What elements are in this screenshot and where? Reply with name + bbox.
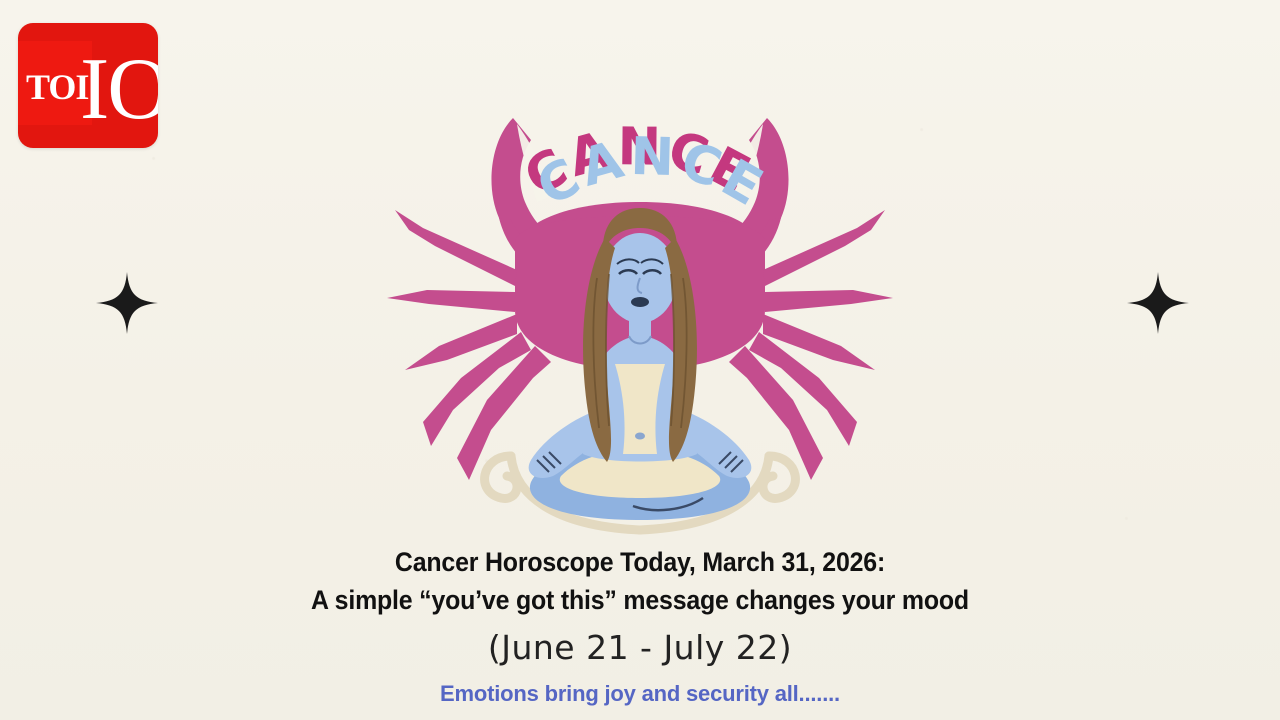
caption-block: Cancer Horoscope Today, March 31, 2026: … [0, 543, 1280, 707]
zodiac-date-range: (June 21 - July 22) [0, 628, 1280, 667]
logo-wordmark: TOI [26, 69, 88, 105]
logo-monogram: IO [80, 46, 158, 134]
toi-logo[interactable]: IO TOI [18, 23, 158, 148]
headline-line-1: Cancer Horoscope Today, March 31, 2026: [395, 547, 885, 577]
headline-line-2: A simple “you’ve got this” message chang… [38, 581, 1241, 619]
sparkle-star-right-icon [1127, 272, 1189, 334]
article-lede-text: Emotions bring joy and security all.....… [0, 681, 1280, 707]
headline: Cancer Horoscope Today, March 31, 2026: … [38, 543, 1241, 620]
sparkle-star-left-icon [96, 272, 158, 334]
cancer-zodiac-illustration: CANCER CANCER [365, 78, 915, 548]
cancer-word-text: CANCER CANCER [365, 78, 776, 220]
